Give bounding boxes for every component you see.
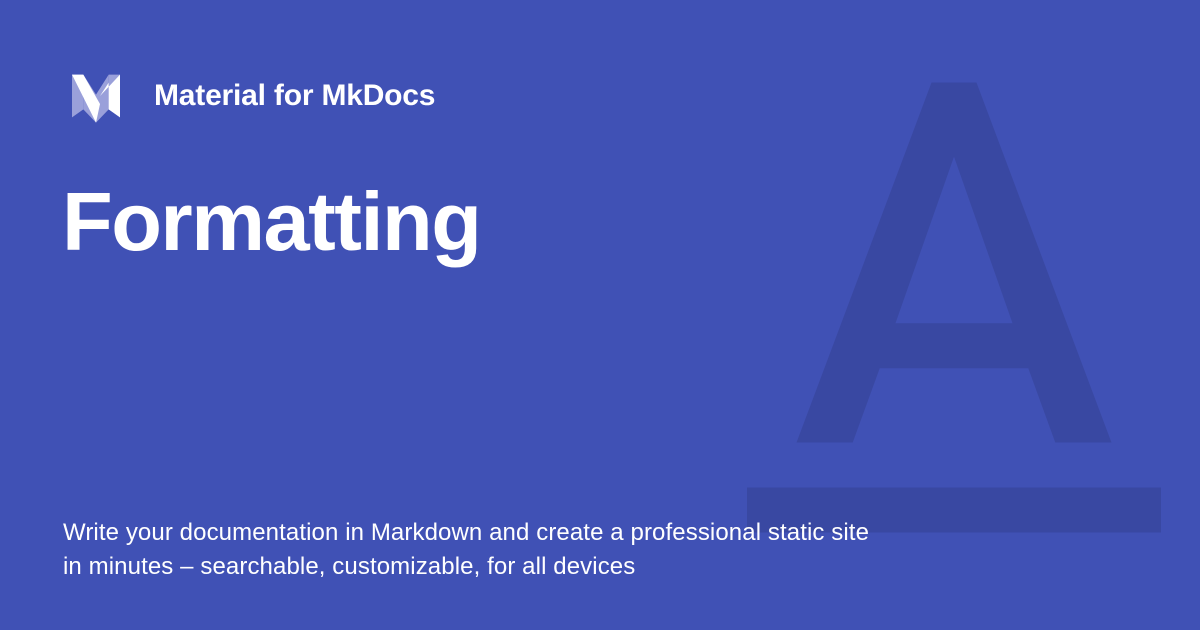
description-line-2: in minutes – searchable, customizable, f… [63, 550, 893, 584]
card-header: Material for MkDocs [64, 64, 435, 128]
description-line-1: Write your documentation in Markdown and… [63, 516, 893, 550]
social-card: Material for MkDocs Formatting Write you… [0, 0, 1200, 630]
card-description: Write your documentation in Markdown and… [63, 516, 893, 584]
page-title: Formatting [62, 178, 820, 265]
site-name: Material for MkDocs [154, 81, 435, 111]
material-for-mkdocs-logo-icon [64, 64, 128, 128]
